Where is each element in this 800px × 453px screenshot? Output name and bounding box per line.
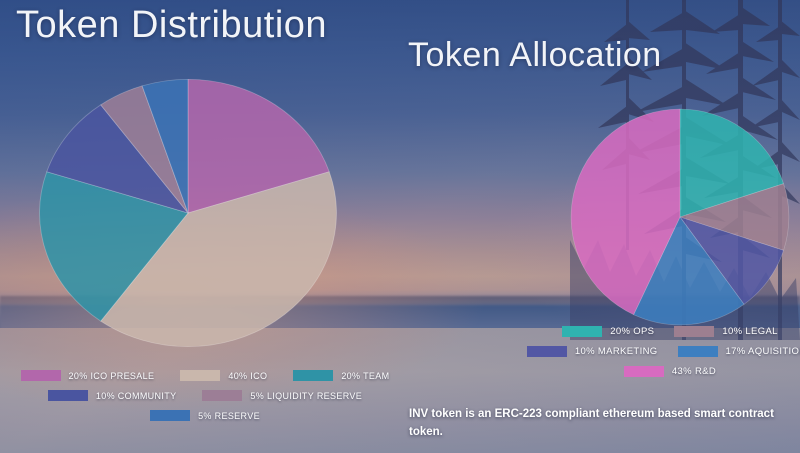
pie-chart-token-distribution — [38, 78, 338, 348]
legend-item: 10% MARKETING — [527, 346, 658, 357]
legend-item-label: 20% OPS — [610, 326, 654, 337]
legend-color-swatch — [527, 346, 567, 357]
pie-slice-group — [40, 79, 337, 346]
legend-item-label: 10% LEGAL — [722, 326, 777, 337]
legend-color-swatch — [202, 390, 242, 401]
legend-item: 20% ICO PRESALE — [21, 370, 155, 381]
legend-item: 5% RESERVE — [150, 410, 260, 421]
legend-item-label: 43% R&D — [672, 366, 716, 377]
caption-text: INV token is an ERC-223 compliant ethere… — [409, 406, 787, 442]
legend-item-label: 5% LIQUIDITY RESERVE — [250, 391, 362, 401]
legend-color-swatch — [180, 370, 220, 381]
legend-row: 10% MARKETING17% AQUISITIONS — [540, 346, 800, 357]
legend-item-label: 10% MARKETING — [575, 346, 658, 357]
legend-item-label: 20% TEAM — [341, 371, 389, 381]
legend-item: 20% OPS — [562, 326, 654, 337]
legend-item-label: 20% ICO PRESALE — [69, 371, 155, 381]
legend-item: 5% LIQUIDITY RESERVE — [202, 390, 362, 401]
pie-chart-token-distribution-svg — [38, 78, 338, 348]
legend-color-swatch — [293, 370, 333, 381]
slide-canvas: Token Distribution Token Allocation 20% … — [0, 0, 800, 453]
legend-item: 10% LEGAL — [674, 326, 777, 337]
legend-color-swatch — [674, 326, 714, 337]
legend-item: 43% R&D — [624, 366, 716, 377]
legend-color-swatch — [150, 410, 190, 421]
legend-row: 20% OPS10% LEGAL — [540, 326, 800, 337]
legend-token-distribution: 20% ICO PRESALE40% ICO20% TEAM10% COMMUN… — [30, 370, 380, 430]
page-title-token-distribution: Token Distribution — [16, 4, 327, 47]
legend-color-swatch — [678, 346, 718, 357]
pie-chart-token-allocation-svg — [570, 108, 790, 326]
page-title-token-allocation: Token Allocation — [408, 36, 662, 75]
legend-color-swatch — [48, 390, 88, 401]
legend-row: 10% COMMUNITY5% LIQUIDITY RESERVE — [30, 390, 380, 401]
legend-item: 40% ICO — [180, 370, 267, 381]
legend-item-label: 5% RESERVE — [198, 411, 260, 421]
legend-color-swatch — [21, 370, 61, 381]
legend-row: 5% RESERVE — [30, 410, 380, 421]
legend-row: 20% ICO PRESALE40% ICO20% TEAM — [30, 370, 380, 381]
legend-row: 43% R&D — [540, 366, 800, 377]
legend-item-label: 40% ICO — [228, 371, 267, 381]
legend-item: 20% TEAM — [293, 370, 389, 381]
legend-item-label: 10% COMMUNITY — [96, 391, 177, 401]
pie-chart-token-allocation — [570, 108, 790, 326]
legend-item: 17% AQUISITIONS — [678, 346, 800, 357]
legend-item-label: 17% AQUISITIONS — [726, 346, 800, 357]
legend-item: 10% COMMUNITY — [48, 390, 177, 401]
legend-token-allocation: 20% OPS10% LEGAL10% MARKETING17% AQUISIT… — [540, 326, 800, 386]
pie-slice-group — [571, 109, 789, 325]
legend-color-swatch — [562, 326, 602, 337]
legend-color-swatch — [624, 366, 664, 377]
